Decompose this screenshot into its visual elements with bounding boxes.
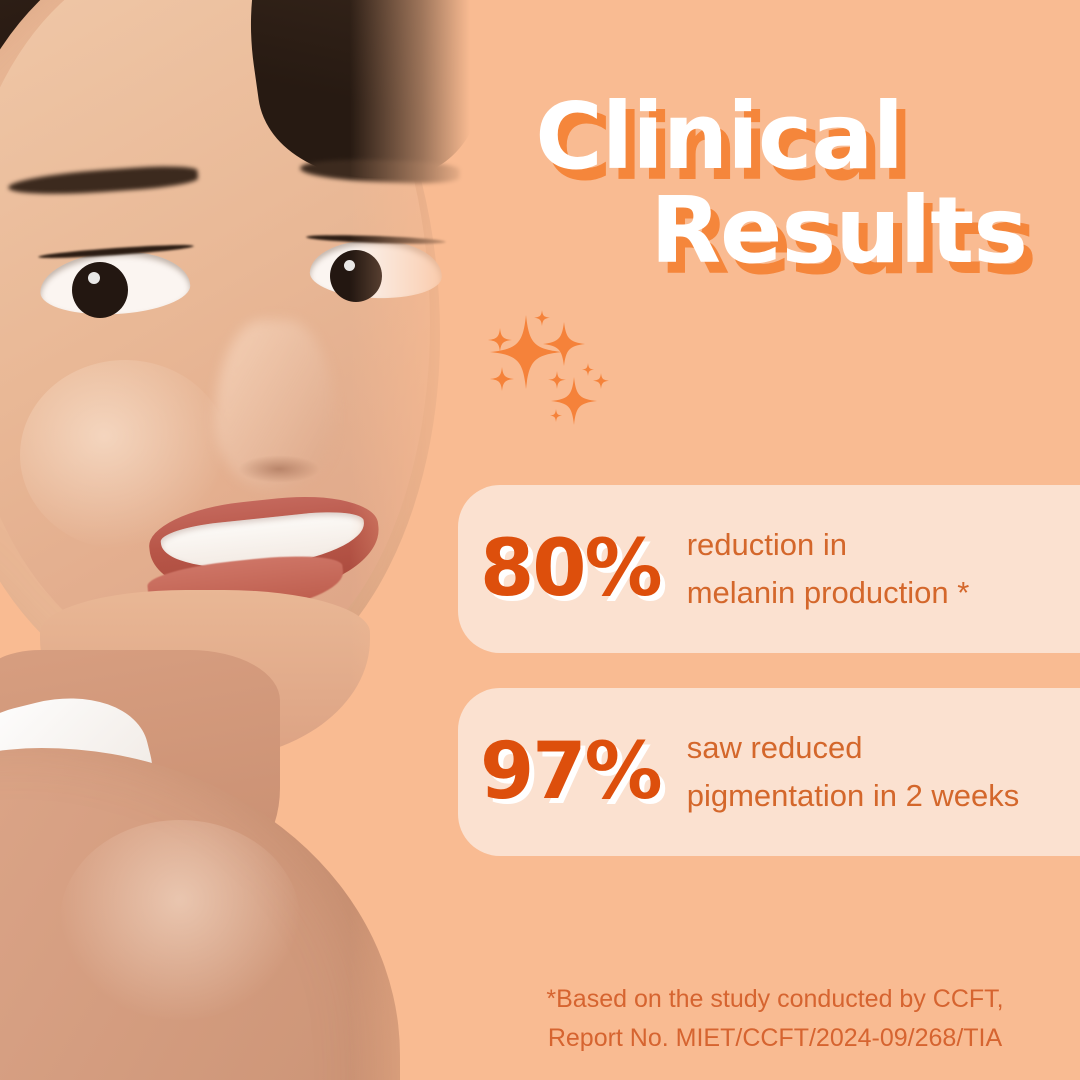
sparkle-star-tiny-c-icon — [582, 363, 594, 376]
sparkle-star-small-a-icon — [488, 328, 512, 352]
stat-card: 80% reduction in melanin production * — [458, 485, 1080, 653]
stat-description: saw reduced pigmentation in 2 weeks — [687, 724, 1020, 820]
stat-value: 97% — [480, 733, 661, 811]
title-line-1: Clinical — [470, 92, 1055, 182]
sparkle-star-small-d-icon — [593, 373, 609, 389]
stat-description-line-1: saw reduced — [687, 724, 1020, 772]
clinical-results-poster: Clinical Results — [0, 0, 1080, 1080]
stat-value: 80% — [480, 530, 661, 608]
footnote-line-2: Report No. MIET/CCFT/2024-09/268/TIA — [482, 1019, 1068, 1058]
sparkle-star-medium-icon — [543, 322, 585, 366]
shoulder-highlight — [60, 820, 300, 1020]
iris-left — [72, 262, 128, 318]
footnote-line-1: *Based on the study conducted by CCFT, — [482, 980, 1068, 1019]
page-title: Clinical Results — [470, 92, 1055, 276]
stat-description-line-1: reduction in — [687, 521, 970, 569]
footnote: *Based on the study conducted by CCFT, R… — [470, 980, 1080, 1058]
sparkle-star-small-b-icon — [490, 367, 514, 391]
stat-description: reduction in melanin production * — [687, 521, 970, 617]
stat-description-line-2: melanin production * — [687, 569, 970, 617]
sparkle-cluster — [478, 305, 618, 435]
sparkle-group-icon — [478, 305, 618, 435]
eye-glint-left — [88, 272, 100, 284]
sparkle-star-small-c-icon — [548, 371, 566, 389]
photo-edge-fade — [350, 0, 470, 1080]
title-line-2: Results — [470, 186, 1055, 276]
model-photo — [0, 0, 470, 1080]
stat-card: 97% saw reduced pigmentation in 2 weeks — [458, 688, 1080, 856]
nostrils — [238, 455, 320, 483]
stat-description-line-2: pigmentation in 2 weeks — [687, 772, 1020, 820]
sparkle-star-tiny-b-icon — [550, 409, 562, 422]
sparkle-star-tiny-a-icon — [534, 310, 550, 326]
